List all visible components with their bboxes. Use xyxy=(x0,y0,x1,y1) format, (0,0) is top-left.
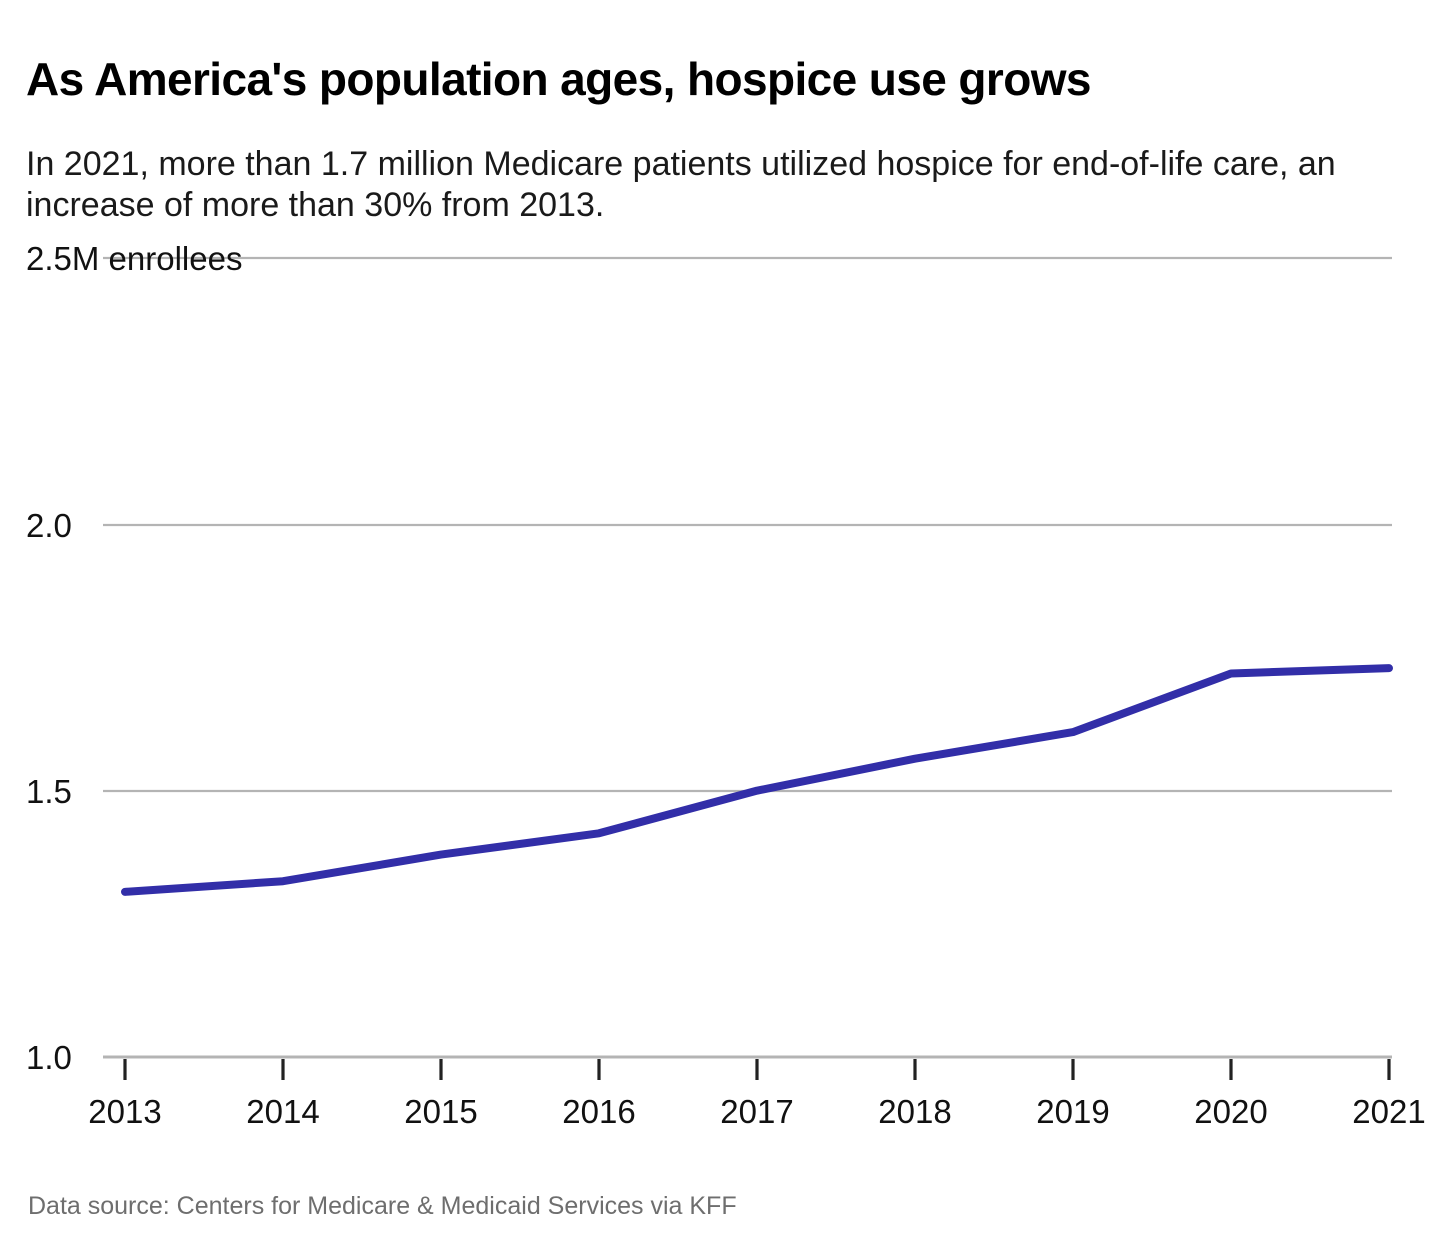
y-tick-label-2.0: 2.0 xyxy=(26,507,72,544)
x-tick-label-2018: 2018 xyxy=(878,1093,951,1130)
x-tick-label-2016: 2016 xyxy=(562,1093,635,1130)
gridlines xyxy=(103,258,1392,1057)
x-tick-label-2021: 2021 xyxy=(1352,1093,1425,1130)
chart-canvas: 2.5M enrollees 2.0 1.5 1.0 2013 201 xyxy=(0,228,1440,1168)
y-tick-label-2.5: 2.5M enrollees xyxy=(26,240,242,277)
x-axis-ticks xyxy=(125,1059,1389,1080)
y-tick-label-1.5: 1.5 xyxy=(26,773,72,810)
chart-page: As America's population ages, hospice us… xyxy=(0,0,1440,1256)
data-source-caption: Data source: Centers for Medicare & Medi… xyxy=(28,1192,737,1221)
x-tick-label-2015: 2015 xyxy=(404,1093,477,1130)
y-tick-label-1.0: 1.0 xyxy=(26,1039,72,1076)
x-tick-label-2014: 2014 xyxy=(246,1093,319,1130)
x-tick-label-2017: 2017 xyxy=(720,1093,793,1130)
x-tick-label-2020: 2020 xyxy=(1194,1093,1267,1130)
data-series-medicare-hospice-enrollees xyxy=(125,668,1389,892)
page-title: As America's population ages, hospice us… xyxy=(26,55,1406,105)
y-axis-labels: 2.5M enrollees 2.0 1.5 1.0 xyxy=(26,240,242,1076)
x-axis-labels: 2013 2014 2015 2016 2017 2018 2019 2020 … xyxy=(88,1093,1425,1130)
line-chart: 2.5M enrollees 2.0 1.5 1.0 2013 201 xyxy=(0,228,1440,1168)
x-tick-label-2013: 2013 xyxy=(88,1093,161,1130)
x-tick-label-2019: 2019 xyxy=(1036,1093,1109,1130)
page-subtitle: In 2021, more than 1.7 million Medicare … xyxy=(26,144,1386,227)
